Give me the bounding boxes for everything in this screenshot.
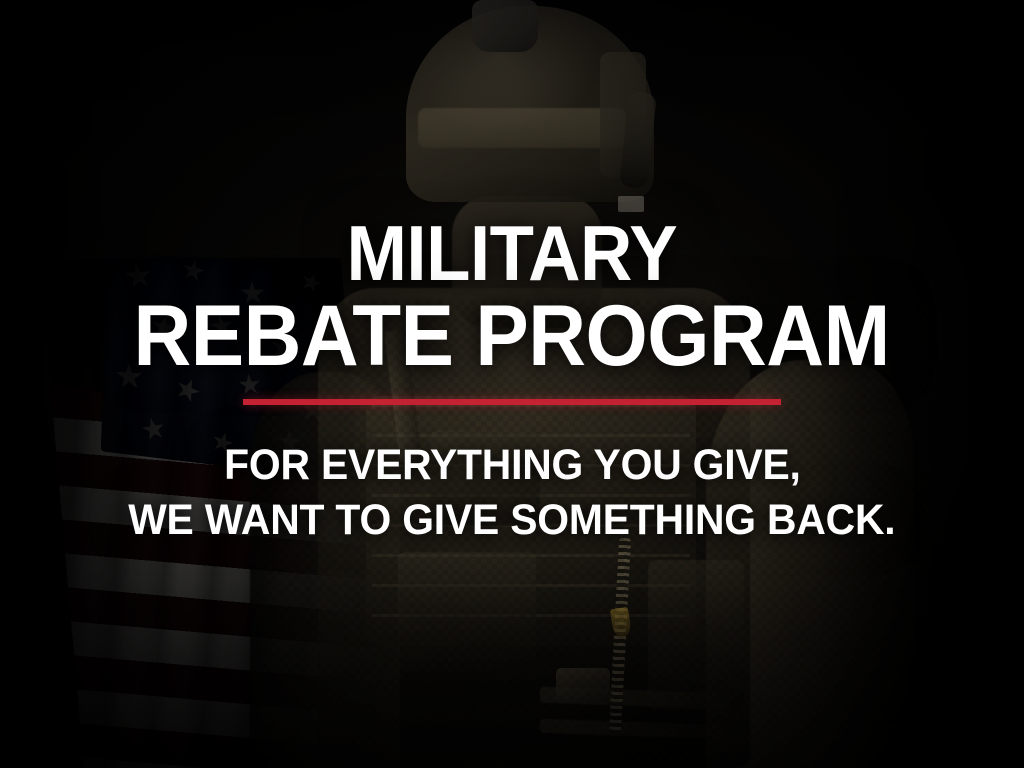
subheadline-line-2: WE WANT TO GIVE SOMETHING BACK. (128, 496, 895, 544)
headline-line-1: MILITARY (347, 216, 678, 291)
military-rebate-banner: MILITARY REBATE PROGRAM FOR EVERYTHING Y… (0, 0, 1024, 768)
subheadline-line-1: FOR EVERYTHING YOU GIVE, (224, 441, 801, 489)
red-divider-rule (243, 399, 781, 405)
banner-content: MILITARY REBATE PROGRAM FOR EVERYTHING Y… (0, 0, 1024, 768)
headline-line-2: REBATE PROGRAM (134, 295, 890, 378)
